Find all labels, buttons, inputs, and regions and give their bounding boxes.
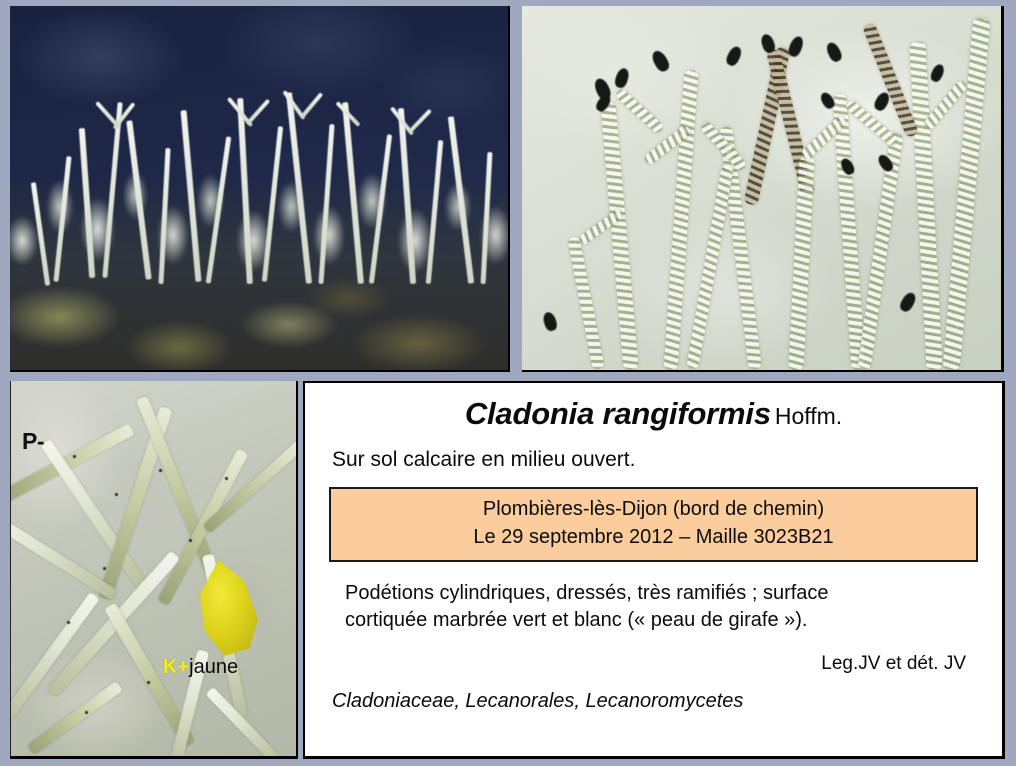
species-title: Cladonia rangiformisHoffm. [305,396,1002,432]
photo-bottom-left [10,381,298,759]
description-text: Podétions cylindriques, dressés, très ra… [345,580,975,634]
species-authority: Hoffm. [771,403,842,429]
location-line-2: Le 29 septembre 2012 – Maille 3023B21 [337,524,970,552]
habitat-text: Sur sol calcaire en milieu ouvert. [332,448,1002,472]
slide-canvas: P- K+jaune Cladonia rangiformisHoffm. Su… [0,0,1016,766]
k-test-label: K+jaune [163,656,238,679]
description-line-1: Podétions cylindriques, dressés, très ra… [345,580,975,607]
photo-top-right [522,6,1004,372]
taxonomy-text: Cladoniaceae, Lecanorales, Lecanoromycet… [332,690,1002,713]
p-test-label: P- [22,428,44,455]
description-line-2: cortiquée marbrée vert et blanc (« peau … [345,607,975,634]
species-info-panel: Cladonia rangiformisHoffm. Sur sol calca… [303,381,1005,759]
location-box: Plombières-lès-Dijon (bord de chemin) Le… [329,487,978,562]
collector-text: Leg.JV et dét. JV [305,653,966,675]
k-test-symbol: K+ [163,656,189,678]
species-scientific-name: Cladonia rangiformis [465,396,771,431]
k-test-word: jaune [189,656,238,678]
location-line-1: Plombières-lès-Dijon (bord de chemin) [337,496,970,524]
photo-top-left [10,6,510,372]
